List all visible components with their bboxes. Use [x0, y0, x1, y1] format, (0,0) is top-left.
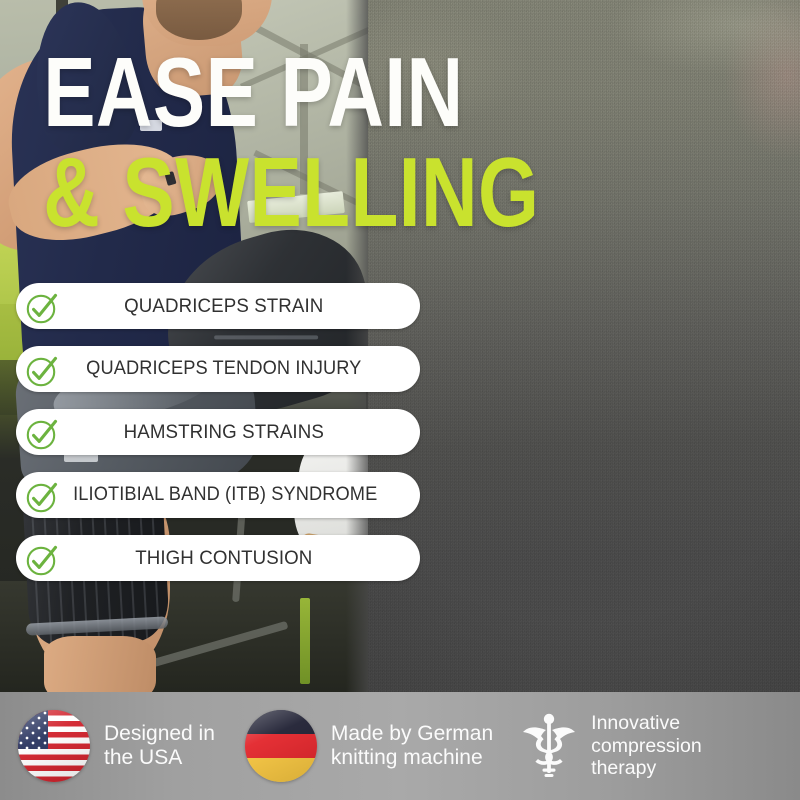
footer-label-line-2: the USA: [104, 746, 182, 769]
footer-label-line-2: knitting machine: [331, 746, 483, 769]
usa-flag-icon: [18, 710, 90, 782]
check-circle-icon: [22, 541, 66, 575]
footer-label-line-1: Made by German: [331, 722, 493, 745]
list-item[interactable]: QUADRICEPS TENDON INJURY: [16, 346, 420, 392]
list-item[interactable]: QUADRICEPS STRAIN: [16, 283, 420, 329]
german-flag-icon: [245, 710, 317, 782]
footer-item-label: Innovative compression therapy: [591, 712, 702, 780]
check-circle-icon: [22, 478, 66, 512]
list-item-label: HAMSTRING STRAINS: [73, 421, 413, 444]
footer-label-line-1: Designed in: [104, 722, 215, 745]
footer-item-label: Made by German knitting machine: [331, 722, 493, 769]
headline: EASE PAIN & SWELLING: [0, 44, 432, 240]
footer-label-line-2: compression: [591, 735, 702, 757]
check-circle-icon: [22, 415, 66, 449]
footer-label-line-3: therapy: [591, 757, 656, 779]
footer-item-label: Designed in the USA: [104, 722, 215, 769]
footer-item-compression-therapy: Innovative compression therapy: [521, 710, 702, 782]
check-circle-icon: [22, 289, 66, 323]
list-item[interactable]: ILIOTIBIAL BAND (ITB) SYNDROME: [16, 472, 420, 518]
list-item-label: THIGH CONTUSION: [73, 547, 413, 570]
headline-line-1: EASE PAIN: [43, 44, 389, 140]
list-item-label: ILIOTIBIAL BAND (ITB) SYNDROME: [73, 484, 416, 506]
list-item[interactable]: HAMSTRING STRAINS: [16, 409, 420, 455]
conditions-list: QUADRICEPS STRAIN QUADRICEPS TENDON INJU…: [16, 283, 420, 598]
check-circle-icon: [22, 352, 66, 386]
list-item-label: QUADRICEPS STRAIN: [73, 295, 413, 318]
list-item-label: QUADRICEPS TENDON INJURY: [73, 358, 413, 380]
trust-badges-footer: Designed in the USA Made by German knitt…: [0, 692, 800, 800]
footer-item-made-germany: Made by German knitting machine: [245, 710, 493, 782]
photo-calf: [44, 636, 156, 692]
headline-line-2: & SWELLING: [43, 144, 389, 240]
caduceus-icon: [521, 710, 577, 782]
list-item[interactable]: THIGH CONTUSION: [16, 535, 420, 581]
product-infographic: EASE PAIN & SWELLING QUADRICEPS STRAIN Q…: [0, 0, 800, 800]
footer-item-designed-usa: Designed in the USA: [18, 710, 215, 782]
photo-green-post: [300, 598, 310, 684]
footer-label-line-1: Innovative: [591, 712, 680, 734]
